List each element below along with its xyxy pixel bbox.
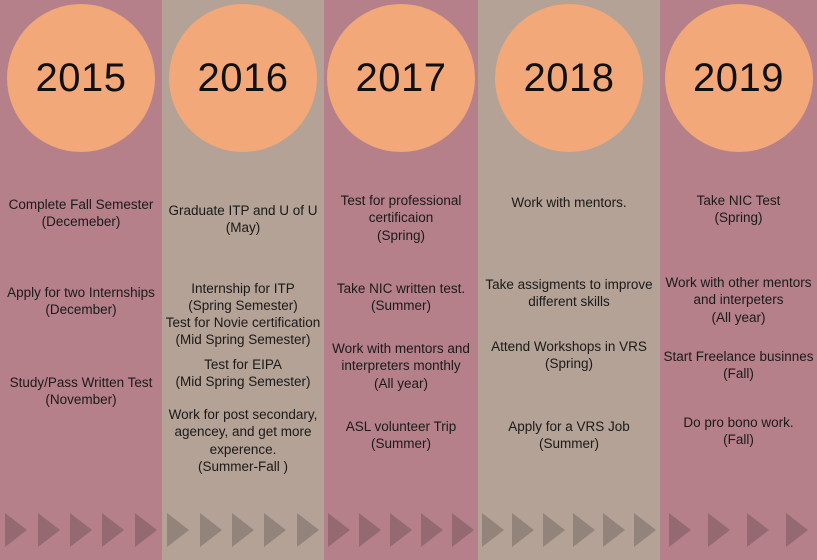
event-detail: (November) (1, 391, 161, 408)
event-item: Internship for ITP(Spring Semester) (162, 280, 324, 315)
arrow-right-icon (452, 513, 474, 547)
arrow-right-icon (708, 513, 730, 547)
arrow-right-icon (167, 513, 189, 547)
event-title: Take assigments to improve (479, 276, 659, 293)
event-title: Start Freelance businnes (661, 348, 816, 365)
event-detail: agencey, and get more (163, 423, 323, 440)
event-title: Do pro bono work. (661, 414, 816, 431)
event-detail: (Decemeber) (1, 213, 161, 230)
year-circle-2016: 2016 (169, 4, 317, 152)
event-item: Apply for a VRS Job(Summer) (478, 418, 660, 453)
arrow-right-icon (200, 513, 222, 547)
event-detail: (Summer) (325, 435, 477, 452)
event-item: ASL volunteer Trip(Summer) (324, 418, 478, 453)
year-label: 2015 (36, 58, 127, 98)
year-column-2018: 2018Work with mentors.Take assigments to… (478, 0, 660, 560)
event-title: Work with other mentors (661, 274, 816, 291)
arrow-right-icon (359, 513, 381, 547)
event-title: Complete Fall Semester (1, 196, 161, 213)
year-label: 2017 (356, 58, 447, 98)
arrow-right-icon (482, 513, 504, 547)
event-detail: and interpeters (661, 291, 816, 308)
arrow-right-icon (543, 513, 565, 547)
event-title: Test for EIPA (163, 356, 323, 373)
event-detail: (Summer-Fall ) (163, 458, 323, 475)
event-detail: (All year) (325, 375, 477, 392)
arrow-right-icon (603, 513, 625, 547)
event-detail: (Summer) (479, 435, 659, 452)
event-item: Study/Pass Written Test(November) (0, 374, 162, 409)
event-title: Apply for a VRS Job (479, 418, 659, 435)
event-detail: (Spring) (479, 355, 659, 372)
event-detail: experence. (163, 441, 323, 458)
event-detail: (All year) (661, 309, 816, 326)
year-circle-2018: 2018 (495, 4, 643, 152)
event-list: Complete Fall Semester(Decemeber)Apply f… (0, 156, 162, 490)
event-item: Take NIC Test(Spring) (660, 192, 817, 227)
event-title: Attend Workshops in VRS (479, 338, 659, 355)
event-detail: (Fall) (661, 365, 816, 382)
year-circle-2019: 2019 (665, 4, 813, 152)
event-item: Graduate ITP and U of U(May) (162, 202, 324, 237)
event-item: Work for post secondary,agencey, and get… (162, 406, 324, 475)
event-detail: (December) (1, 301, 161, 318)
year-circle-2015: 2015 (7, 4, 155, 152)
event-detail: (Spring) (661, 209, 816, 226)
event-item: Complete Fall Semester(Decemeber) (0, 196, 162, 231)
event-item: Apply for two Internships(December) (0, 284, 162, 319)
event-title: Work with mentors. (479, 194, 659, 211)
event-item: Work with mentors andinterpreters monthl… (324, 340, 478, 392)
arrow-strip (324, 506, 478, 554)
event-list: Graduate ITP and U of U(May)Internship f… (162, 156, 324, 490)
event-item: Start Freelance businnes(Fall) (660, 348, 817, 383)
year-column-2019: 2019Take NIC Test(Spring)Work with other… (660, 0, 817, 560)
year-circle-2017: 2017 (327, 4, 475, 152)
event-detail: (Mid Spring Semester) (163, 331, 323, 348)
event-list: Take NIC Test(Spring)Work with other men… (660, 156, 817, 490)
event-title: Test for Novie certification (163, 314, 323, 331)
arrow-right-icon (512, 513, 534, 547)
event-title: Test for professional (325, 192, 477, 209)
arrow-right-icon (297, 513, 319, 547)
year-column-2015: 2015Complete Fall Semester(Decemeber)App… (0, 0, 162, 560)
event-title: ASL volunteer Trip (325, 418, 477, 435)
event-item: Work with other mentorsand interpeters(A… (660, 274, 817, 326)
event-item: Take NIC written test.(Summer) (324, 280, 478, 315)
arrow-right-icon (232, 513, 254, 547)
event-item: Do pro bono work.(Fall) (660, 414, 817, 449)
arrow-right-icon (669, 513, 691, 547)
event-title: Internship for ITP (163, 280, 323, 297)
event-item: Test for professionalcertificaion(Spring… (324, 192, 478, 244)
year-label: 2018 (524, 58, 615, 98)
arrow-strip (660, 506, 817, 554)
arrow-right-icon (747, 513, 769, 547)
event-item: Test for Novie certification(Mid Spring … (162, 314, 324, 349)
event-title: Graduate ITP and U of U (163, 202, 323, 219)
event-detail: (Fall) (661, 431, 816, 448)
arrow-right-icon (38, 513, 60, 547)
timeline-infographic: 2015Complete Fall Semester(Decemeber)App… (0, 0, 817, 560)
event-item: Take assigments to improvedifferent skil… (478, 276, 660, 311)
event-detail: (Summer) (325, 297, 477, 314)
event-list: Test for professionalcertificaion(Spring… (324, 156, 478, 490)
arrow-right-icon (573, 513, 595, 547)
event-detail: (Spring) (325, 227, 477, 244)
year-column-2016: 2016Graduate ITP and U of U(May)Internsh… (162, 0, 324, 560)
event-title: Study/Pass Written Test (1, 374, 161, 391)
event-title: Work with mentors and (325, 340, 477, 357)
event-detail: different skills (479, 293, 659, 310)
arrow-right-icon (786, 513, 808, 547)
event-detail: (May) (163, 219, 323, 236)
event-title: Take NIC Test (661, 192, 816, 209)
arrow-right-icon (102, 513, 124, 547)
arrow-strip (0, 506, 162, 554)
arrow-right-icon (390, 513, 412, 547)
event-item: Test for EIPA(Mid Spring Semester) (162, 356, 324, 391)
event-detail: interpreters monthly (325, 357, 477, 374)
arrow-right-icon (264, 513, 286, 547)
year-column-2017: 2017Test for professionalcertificaion(Sp… (324, 0, 478, 560)
arrow-right-icon (634, 513, 656, 547)
arrow-right-icon (70, 513, 92, 547)
arrow-right-icon (135, 513, 157, 547)
event-title: Take NIC written test. (325, 280, 477, 297)
arrow-strip (478, 506, 660, 554)
year-label: 2016 (198, 58, 289, 98)
event-item: Work with mentors. (478, 194, 660, 211)
event-title: Apply for two Internships (1, 284, 161, 301)
event-detail: certificaion (325, 209, 477, 226)
arrow-right-icon (328, 513, 350, 547)
event-detail: (Mid Spring Semester) (163, 373, 323, 390)
event-list: Work with mentors.Take assigments to imp… (478, 156, 660, 490)
event-detail: (Spring Semester) (163, 297, 323, 314)
arrow-strip (162, 506, 324, 554)
year-label: 2019 (693, 58, 784, 98)
arrow-right-icon (5, 513, 27, 547)
arrow-right-icon (421, 513, 443, 547)
event-title: Work for post secondary, (163, 406, 323, 423)
event-item: Attend Workshops in VRS(Spring) (478, 338, 660, 373)
